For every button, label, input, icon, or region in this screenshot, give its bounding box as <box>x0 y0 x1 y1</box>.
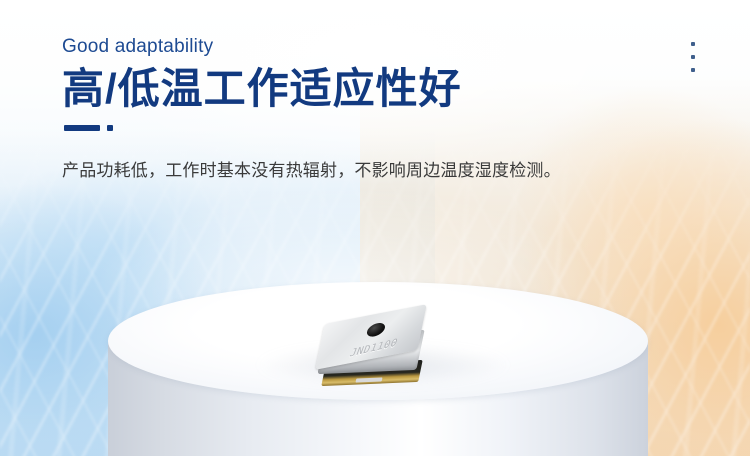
more-vertical-icon[interactable] <box>686 42 700 72</box>
sensor-aperture-icon <box>366 321 386 338</box>
menu-dot-2 <box>691 55 695 59</box>
divider-dot <box>107 125 113 131</box>
title-divider <box>64 125 622 131</box>
product-sensor-module: JND1100 <box>316 312 432 392</box>
banner-copy-block: Good adaptability 高/低温工作适应性好 产品功耗低，工作时基本… <box>62 36 622 201</box>
banner-eyebrow: Good adaptability <box>62 36 622 59</box>
divider-bar <box>64 125 100 131</box>
menu-dot-3 <box>691 68 695 72</box>
page-title: 高/低温工作适应性好 <box>62 65 622 112</box>
floor-strip <box>0 456 750 464</box>
banner-body-text: 产品功耗低，工作时基本没有热辐射，不影响周边温度湿度检测。 <box>62 157 582 185</box>
menu-dot-1 <box>691 42 695 46</box>
product-feature-banner: JND1100 Good adaptability 高/低温工作适应性好 产品功… <box>0 0 750 464</box>
